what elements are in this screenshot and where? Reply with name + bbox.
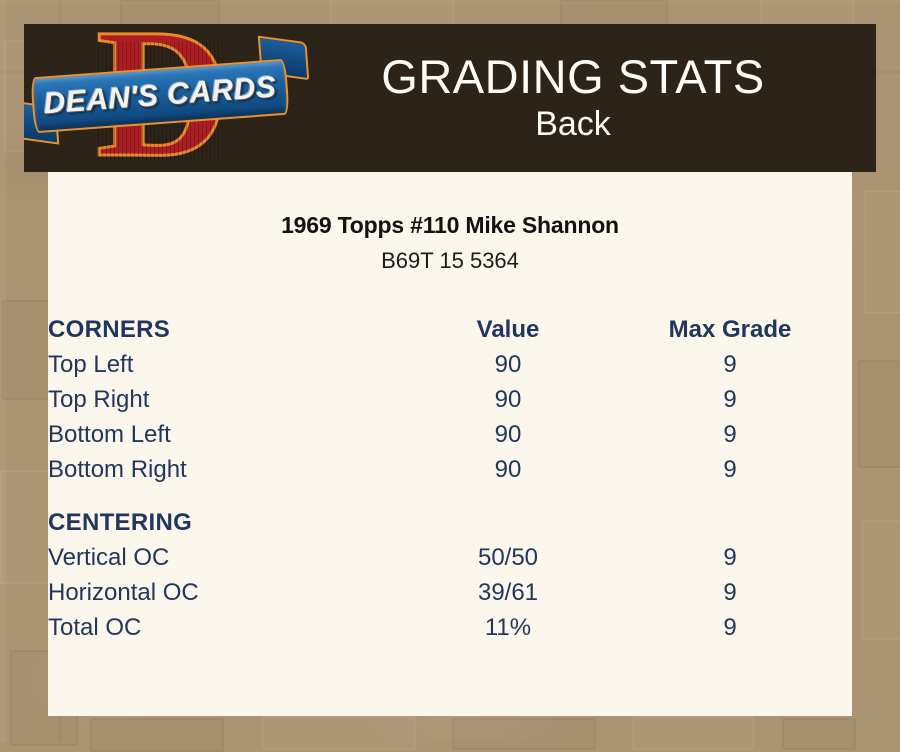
column-header-value: Value <box>408 312 608 347</box>
background-card-texture <box>452 718 596 750</box>
table-row: Top Left909 <box>48 347 852 382</box>
section-name: CORNERS <box>48 312 408 347</box>
background-card-texture <box>760 0 854 26</box>
stat-label: Top Right <box>48 382 408 417</box>
column-header-max-grade: Max Grade <box>608 312 852 347</box>
table-row: Horizontal OC39/619 <box>48 575 852 610</box>
background-card-texture <box>858 360 900 468</box>
page-subtitle: Back <box>294 103 852 145</box>
header-title-group: GRADING STATS Back <box>294 51 876 145</box>
background-card-texture <box>864 190 900 314</box>
table-row: Bottom Left909 <box>48 417 852 452</box>
background-card-texture <box>862 520 900 640</box>
stat-label: Horizontal OC <box>48 575 408 610</box>
page-header: D DEAN'S CARDS GRADING STATS Back <box>24 24 876 172</box>
stat-value: 90 <box>408 347 608 382</box>
stat-label: Top Left <box>48 347 408 382</box>
stat-label: Total OC <box>48 610 408 645</box>
background-card-texture <box>330 0 454 26</box>
table-row: Top Right909 <box>48 382 852 417</box>
stat-max-grade: 9 <box>608 382 852 417</box>
table-row: Total OC11%9 <box>48 610 852 645</box>
stat-value: 90 <box>408 452 608 487</box>
section-header-row: CORNERSValueMax Grade <box>48 312 852 347</box>
content-panel: 1969 Topps #110 Mike Shannon B69T 15 536… <box>48 172 852 716</box>
background-card-texture <box>782 718 856 750</box>
background-card-texture <box>90 718 224 752</box>
column-header-max-grade <box>608 505 852 540</box>
stat-max-grade: 9 <box>608 540 852 575</box>
background-card-texture <box>632 716 754 750</box>
background-card-texture <box>262 716 416 750</box>
stat-label: Bottom Left <box>48 417 408 452</box>
logo-ribbon-text: DEAN'S CARDS <box>30 59 289 134</box>
stat-value: 11% <box>408 610 608 645</box>
table-row: Vertical OC50/509 <box>48 540 852 575</box>
page-title: GRADING STATS <box>294 51 852 103</box>
background-card-texture <box>120 0 220 26</box>
stat-value: 50/50 <box>408 540 608 575</box>
stat-value: 90 <box>408 382 608 417</box>
table-row: Bottom Right909 <box>48 452 852 487</box>
table-spacer-row <box>48 487 852 505</box>
stat-max-grade: 9 <box>608 575 852 610</box>
deans-cards-logo[interactable]: D DEAN'S CARDS <box>24 24 294 172</box>
stat-max-grade: 9 <box>608 347 852 382</box>
stat-value: 39/61 <box>408 575 608 610</box>
table-spacer-cell <box>48 487 852 505</box>
section-header-row: CENTERING <box>48 505 852 540</box>
column-header-value <box>408 505 608 540</box>
grading-stats-table: CORNERSValueMax GradeTop Left909Top Righ… <box>48 312 852 645</box>
logo-ribbon: DEAN'S CARDS <box>30 59 289 134</box>
stat-value: 90 <box>408 417 608 452</box>
stat-label: Bottom Right <box>48 452 408 487</box>
stat-label: Vertical OC <box>48 540 408 575</box>
stat-max-grade: 9 <box>608 417 852 452</box>
section-name: CENTERING <box>48 505 408 540</box>
stat-max-grade: 9 <box>608 610 852 645</box>
stat-max-grade: 9 <box>608 452 852 487</box>
card-serial-number: B69T 15 5364 <box>48 239 852 274</box>
card-title: 1969 Topps #110 Mike Shannon <box>48 172 852 239</box>
